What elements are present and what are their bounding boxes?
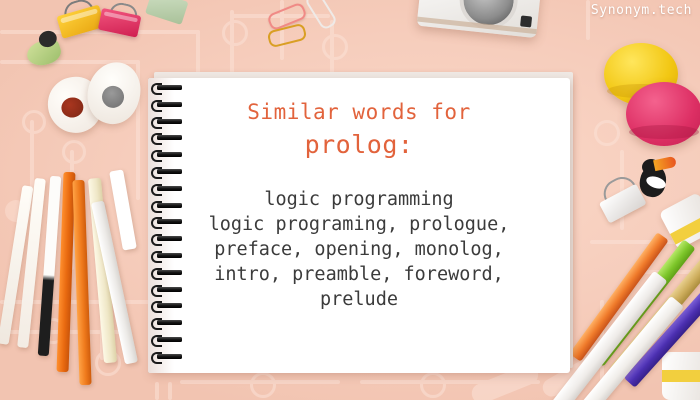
spiral-ring-bar <box>157 169 182 174</box>
spiral-ring-bar <box>157 119 182 124</box>
synonym-line: prelude <box>209 287 510 312</box>
spiral-ring-bar <box>157 219 182 224</box>
synonym-line: logic programing, prologue, <box>209 212 510 237</box>
site-logo: Synonym.tech <box>591 3 692 18</box>
notebook-page: Similar words for prolog: logic programm… <box>148 78 570 373</box>
spiral-ring-bar <box>157 303 182 308</box>
spiral-ring <box>151 235 184 242</box>
spiral-ring-bar <box>157 135 182 140</box>
card-content: Similar words for prolog: logic programm… <box>148 78 570 373</box>
spiral-ring-bar <box>157 102 182 107</box>
synonym-line: preface, opening, monolog, <box>209 237 510 262</box>
spiral-ring <box>151 185 184 192</box>
spiral-ring <box>151 202 184 209</box>
glue-bottle-corner <box>662 352 700 400</box>
synonym-line: logic programming <box>209 187 510 212</box>
spiral-ring <box>151 269 184 276</box>
spiral-ring-bar <box>157 354 182 359</box>
spiral-ring-bar <box>157 253 182 258</box>
spiral-ring <box>151 218 184 225</box>
spiral-ring-bar <box>157 270 182 275</box>
spiral-ring-bar <box>157 287 182 292</box>
spiral-ring <box>151 118 184 125</box>
spiral-ring <box>151 84 184 91</box>
spiral-ring <box>151 168 184 175</box>
spiral-ring-bar <box>157 337 182 342</box>
spiral-binding <box>151 84 191 369</box>
spiral-ring-bar <box>157 186 182 191</box>
spiral-ring <box>151 302 184 309</box>
spiral-ring-bar <box>157 203 182 208</box>
spiral-ring-bar <box>157 236 182 241</box>
spiral-ring <box>151 336 184 343</box>
synonym-list: logic programming logic programing, prol… <box>209 187 510 312</box>
spiral-ring <box>151 286 184 293</box>
spiral-ring <box>151 151 184 158</box>
spiral-ring <box>151 353 184 360</box>
spiral-ring <box>151 134 184 141</box>
spiral-ring <box>151 252 184 259</box>
spiral-ring-bar <box>157 85 182 90</box>
spiral-ring <box>151 101 184 108</box>
heading-prefix: Similar words for <box>247 100 470 124</box>
spiral-ring-bar <box>157 152 182 157</box>
pink-macaron <box>626 82 700 146</box>
heading-term: prolog: <box>305 130 414 159</box>
synonym-line: intro, preamble, foreword, <box>209 262 510 287</box>
spiral-ring <box>151 319 184 326</box>
notebook: Similar words for prolog: logic programm… <box>148 78 573 374</box>
spiral-ring-bar <box>157 320 182 325</box>
